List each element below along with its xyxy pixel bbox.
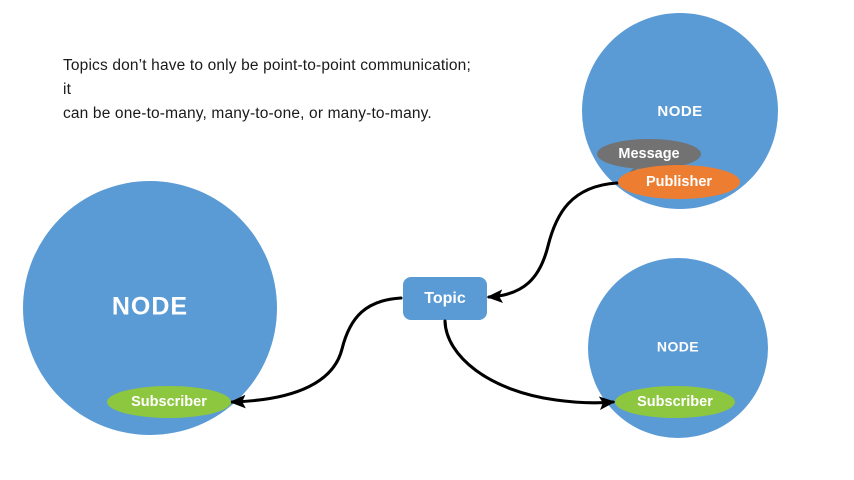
badges-layer: Subscriber Message Publisher Subscriber xyxy=(0,0,854,480)
subscriber-label-bottom-right: Subscriber xyxy=(637,394,713,410)
subscriber-badge-bottom-right[interactable]: Subscriber xyxy=(615,386,735,418)
diagram-canvas: Topics don’t have to only be point-to-po… xyxy=(0,0,854,480)
subscriber-badge-left[interactable]: Subscriber xyxy=(107,386,231,418)
message-label: Message xyxy=(618,146,679,162)
publisher-label: Publisher xyxy=(646,174,712,190)
subscriber-label-left: Subscriber xyxy=(131,394,207,410)
publisher-badge[interactable]: Publisher xyxy=(618,165,740,199)
